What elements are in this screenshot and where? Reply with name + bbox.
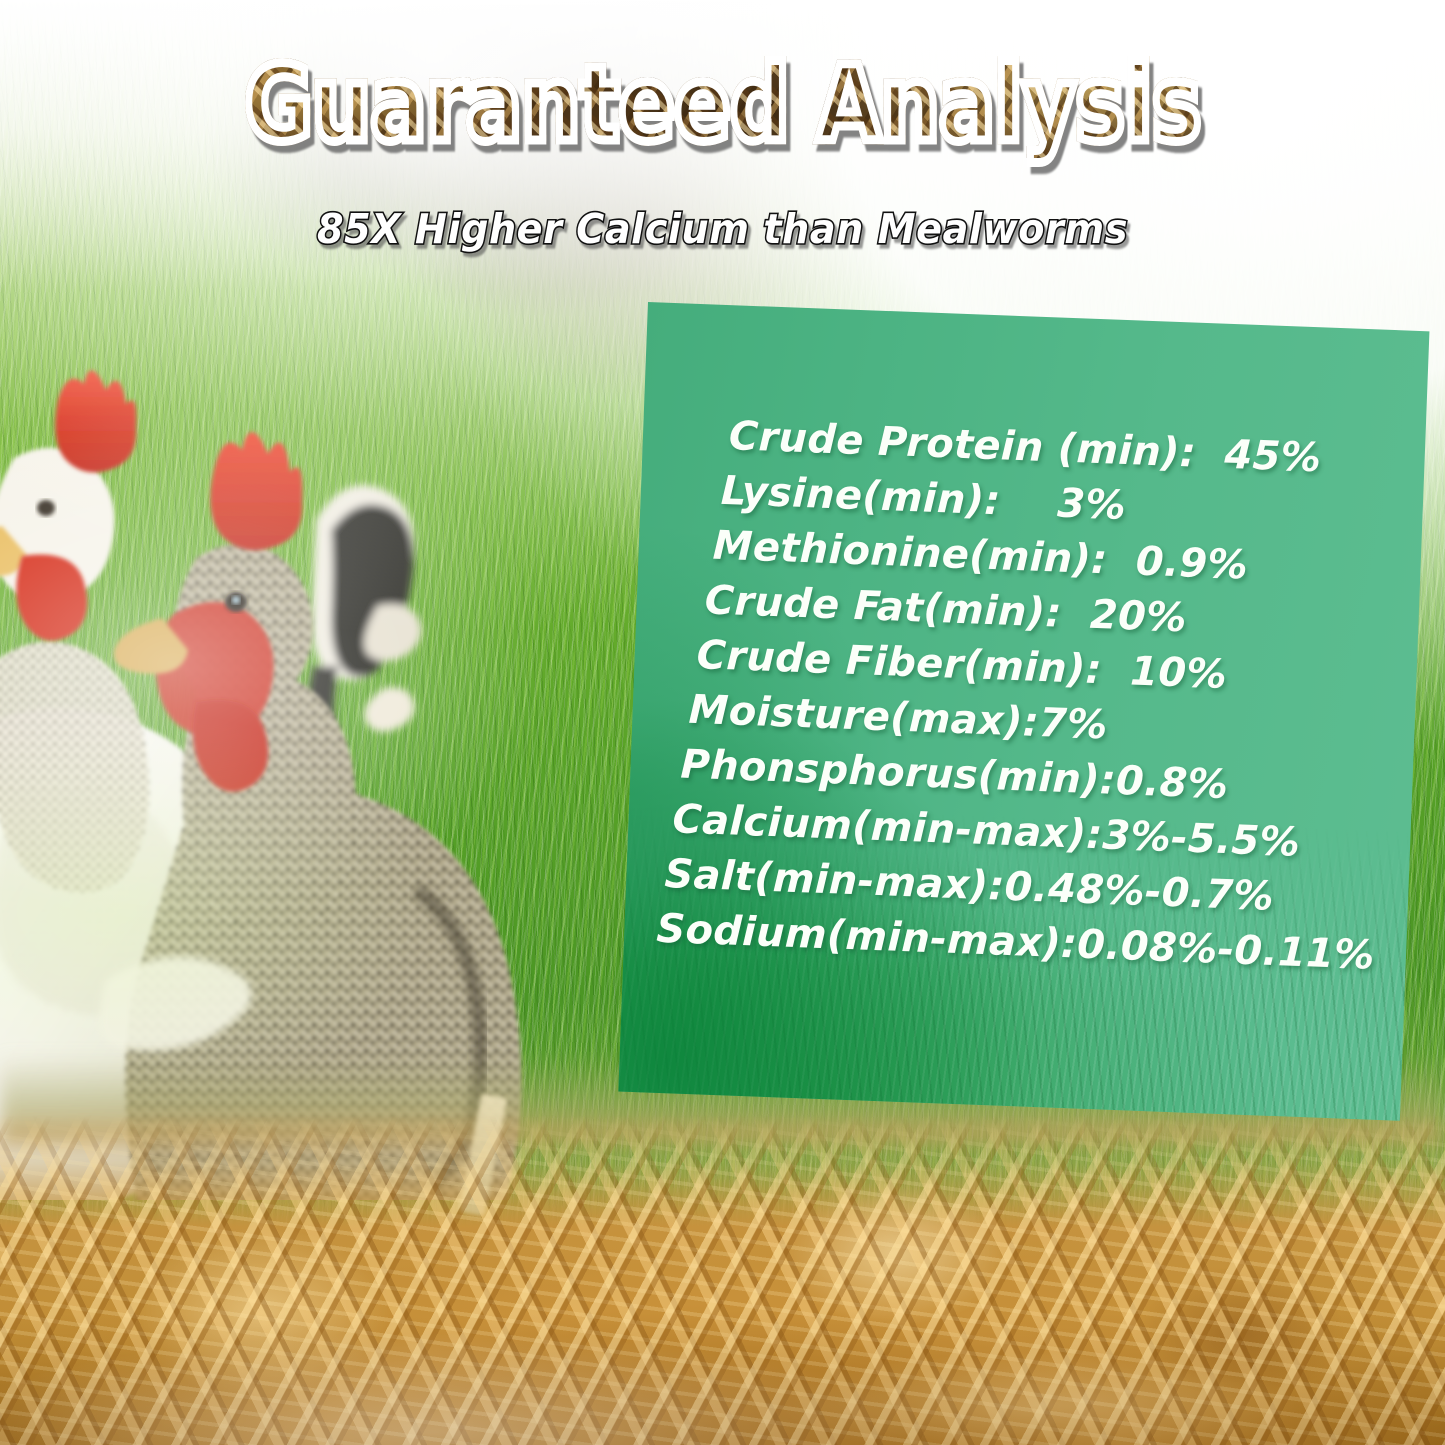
page-title: Guaranteed Analysis [145, 50, 1301, 158]
nutrition-list: Crude Protein (min): 45% Lysine(min): 3%… [618, 302, 1429, 1121]
guaranteed-analysis-panel: Crude Protein (min): 45% Lysine(min): 3%… [618, 302, 1429, 1121]
title-block: Guaranteed Analysis 85X Higher Calcium t… [0, 0, 1445, 300]
larvae-highlight [0, 1115, 1445, 1445]
infographic-canvas: Crude Protein (min): 45% Lysine(min): 3%… [0, 0, 1445, 1445]
page-subtitle: 85X Higher Calcium than Mealworms [51, 206, 1395, 252]
